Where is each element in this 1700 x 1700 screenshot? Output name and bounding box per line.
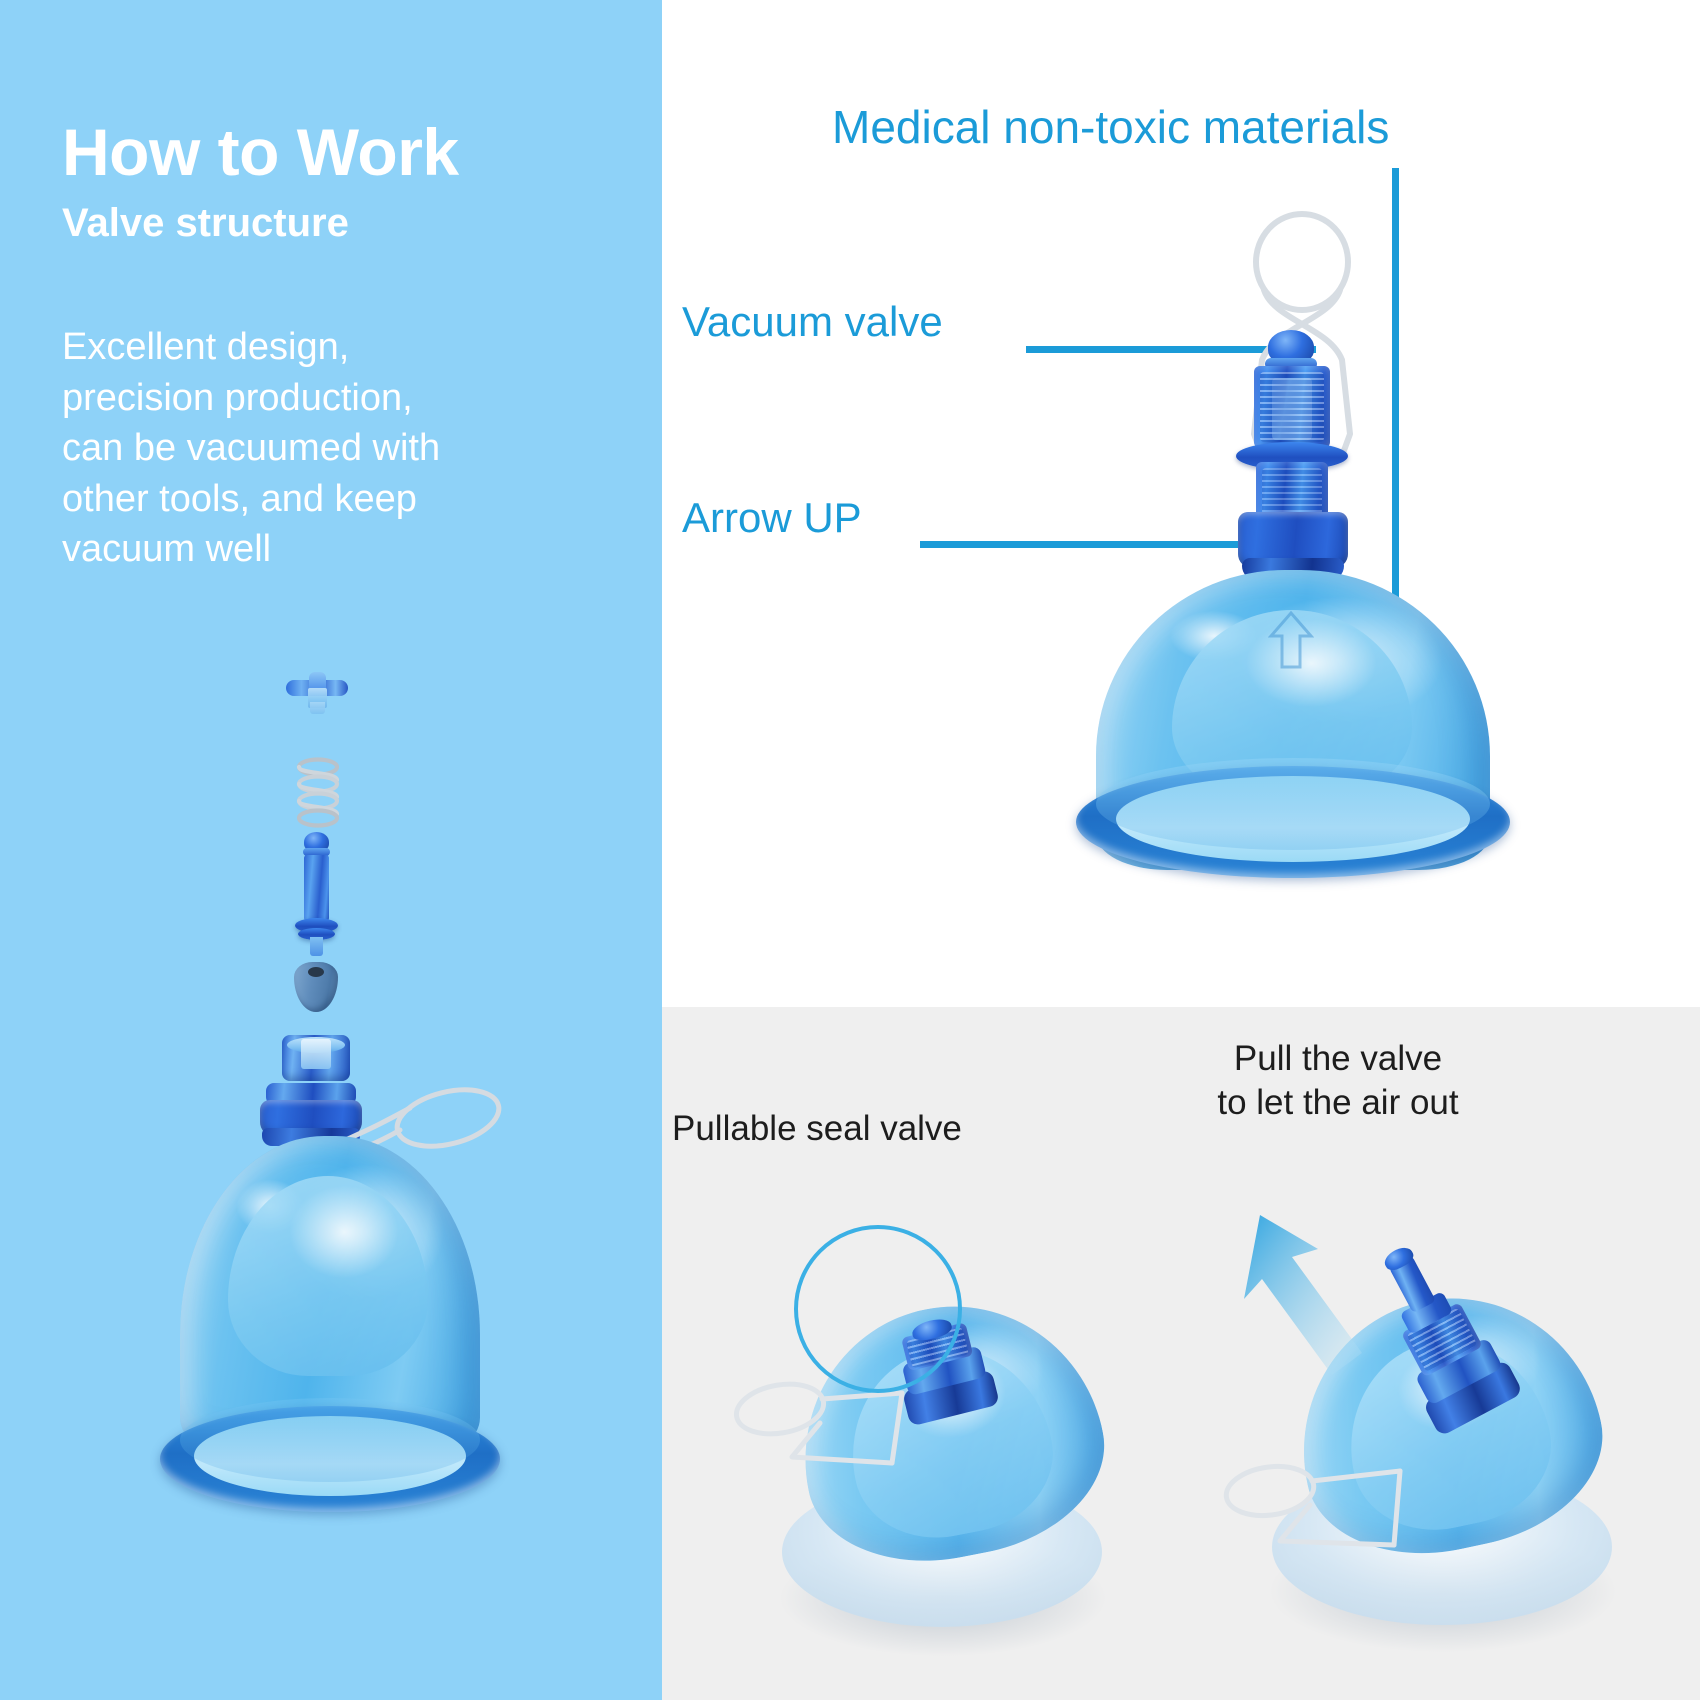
metal-spring-part: [292, 756, 344, 830]
wire-handle-icon: [732, 1371, 952, 1491]
caption-pull-the-valve-line1: Pull the valve: [1158, 1037, 1518, 1081]
cross-cap-part: [286, 672, 348, 718]
pull-direction-arrow-icon: [1222, 1207, 1412, 1397]
body-line-5: vacuum well: [62, 524, 602, 575]
cupping-cup-tilted-valve-pulled: [1152, 1157, 1672, 1647]
callout-vacuum-valve: Vacuum valve: [682, 298, 943, 346]
arrow-up-emboss-icon: [1268, 610, 1314, 670]
wire-handle-icon: [1222, 1457, 1452, 1577]
rubber-seal-grommet-part: [294, 962, 338, 1012]
cupping-cup-upright: [1082, 210, 1502, 870]
cupping-cup-with-wire-handle: [150, 1080, 510, 1550]
page-title: How to Work: [62, 118, 622, 187]
callout-medical-materials: Medical non-toxic materials: [832, 100, 1389, 154]
body-line-4: other tools, and keep: [62, 474, 602, 525]
topright-panel: Medical non-toxic materials Vacuum valve…: [662, 0, 1700, 1007]
infographic-canvas: How to Work Valve structure Excellent de…: [0, 0, 1700, 1700]
cupping-cup-tilted-valve-closed: [682, 1157, 1182, 1647]
title-block: How to Work Valve structure: [62, 118, 622, 245]
highlight-circle-marker: [794, 1225, 962, 1393]
left-panel: How to Work Valve structure Excellent de…: [0, 0, 662, 1700]
caption-pullable-seal-valve: Pullable seal valve: [672, 1107, 962, 1151]
body-line-1: Excellent design,: [62, 322, 602, 373]
body-line-3: can be vacuumed with: [62, 423, 602, 474]
bottomright-panel: Pullable seal valve: [662, 1007, 1700, 1700]
plunger-stem-part: [288, 832, 344, 956]
caption-pull-the-valve-line2: to let the air out: [1158, 1081, 1518, 1125]
body-line-2: precision production,: [62, 373, 602, 424]
caption-pull-the-valve: Pull the valve to let the air out: [1158, 1037, 1518, 1125]
page-subtitle: Valve structure: [62, 201, 622, 245]
callout-arrow-up: Arrow UP: [682, 494, 862, 542]
body-copy: Excellent design, precision production, …: [62, 322, 602, 575]
